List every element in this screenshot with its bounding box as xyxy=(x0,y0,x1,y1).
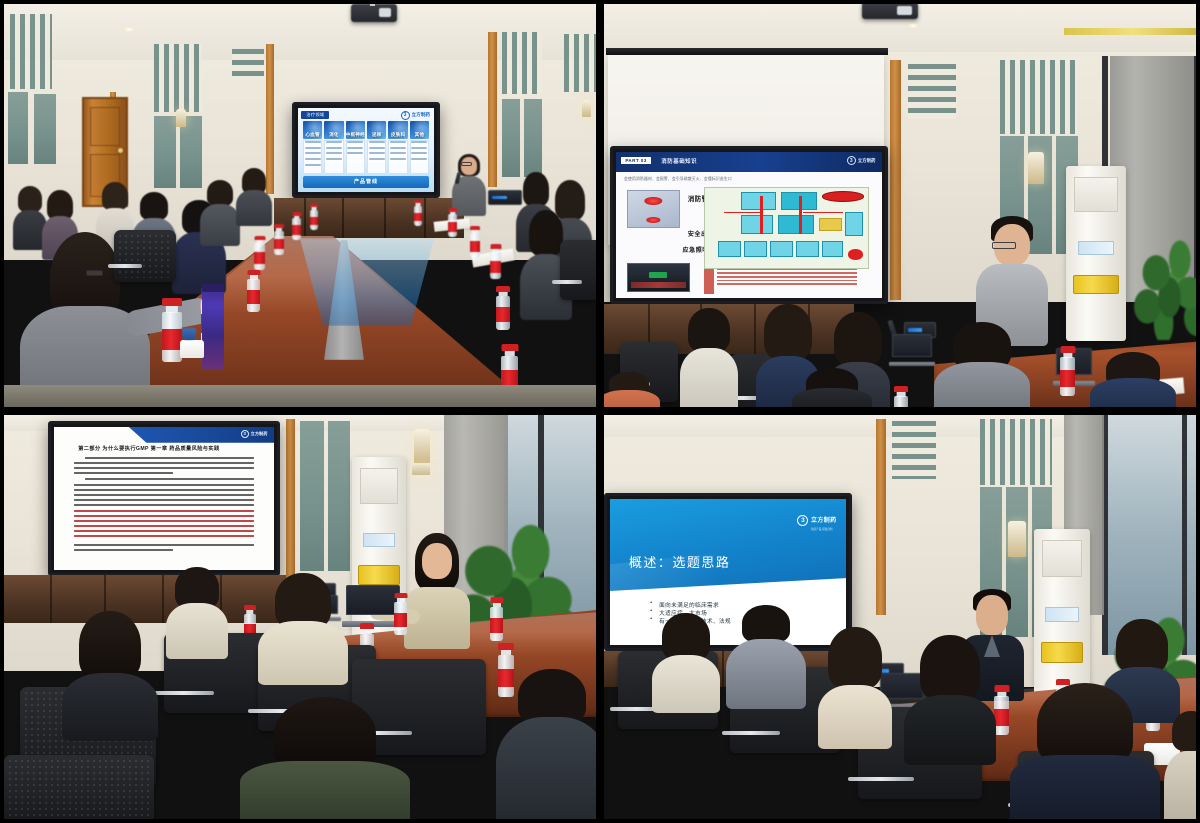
hair xyxy=(79,611,141,681)
eyeglasses xyxy=(992,242,1016,249)
hair xyxy=(828,627,882,689)
ac-display-sticker xyxy=(363,533,395,547)
pipeline-column: 心血管 xyxy=(303,121,323,173)
slide-product-pipeline: 治疗领域 3 立方制药 心血管 xyxy=(298,108,434,192)
map-room xyxy=(845,212,863,236)
chair-arm xyxy=(154,691,214,695)
attendee-left xyxy=(200,180,240,246)
column-title: 泌尿 xyxy=(367,132,387,138)
fire-safety-training-view: PART 03 消防基础知识 3 立方制药 会使用消防器材、会报警、会引导疏散灭… xyxy=(604,4,1196,407)
door-knob[interactable] xyxy=(118,148,123,153)
hair xyxy=(140,192,168,220)
bottle-label xyxy=(274,239,284,250)
hair xyxy=(920,635,980,701)
conference-room-wide-view: 治疗领域 3 立方制药 心血管 xyxy=(4,4,596,407)
wall-sconce xyxy=(1008,521,1026,557)
wall-sconce xyxy=(414,429,430,463)
bottle-label xyxy=(414,213,422,222)
water-bottle[interactable] xyxy=(292,212,301,240)
water-bottle[interactable] xyxy=(490,244,501,279)
bottle-label xyxy=(1060,370,1075,387)
water-bottle[interactable] xyxy=(394,593,407,635)
ac-display-sticker xyxy=(1045,607,1079,622)
column-image: 消化 xyxy=(324,121,344,139)
logo-subtext: 新药产品·研发创新 xyxy=(811,527,837,531)
pipeline-column: 泌尿 xyxy=(367,121,387,173)
exit-sign-icon xyxy=(649,272,668,278)
attendee xyxy=(1090,352,1176,407)
attendee-foreground xyxy=(1010,683,1160,819)
ac-energy-label xyxy=(1073,275,1119,294)
column-image: 泌尿 xyxy=(367,121,387,139)
pipeline-columns: 心血管 消化 xyxy=(303,121,430,173)
display-surface: 3 立方制药 第二部分 为什么要执行GMP 第一章 药品质量风险与实践 xyxy=(54,427,274,570)
wall-stripe-panel xyxy=(10,14,52,89)
torso xyxy=(258,621,348,685)
water-bottle[interactable] xyxy=(470,226,480,258)
bottle-label xyxy=(448,222,457,232)
attendee xyxy=(680,308,738,407)
torso xyxy=(240,761,410,819)
column-items xyxy=(367,140,387,174)
attendee xyxy=(496,669,596,819)
torso xyxy=(792,388,872,407)
water-bottle[interactable] xyxy=(310,204,318,230)
drinking-cup xyxy=(182,328,196,340)
collage-panel-top-left: 治疗领域 3 立方制药 心血管 xyxy=(0,0,600,411)
ceiling-projector xyxy=(351,4,397,22)
chair-arm xyxy=(848,777,914,781)
bottle-label xyxy=(490,261,501,273)
map-room xyxy=(744,241,767,257)
wall-teal-panel xyxy=(34,94,56,164)
floor xyxy=(4,385,596,407)
column-title: 心血管 xyxy=(303,132,323,138)
slide-tag: 治疗领域 xyxy=(301,111,329,119)
assembly-point-icon xyxy=(848,249,863,259)
wall-stripe-panel xyxy=(154,44,202,112)
wall-teal-panel xyxy=(502,99,520,177)
attendee xyxy=(934,322,1030,407)
ac-vent xyxy=(1074,177,1117,212)
wood-trim-column xyxy=(890,60,901,300)
presenter-female xyxy=(404,533,470,649)
slide-footer: 产品管线 xyxy=(303,176,430,188)
logo-mark-icon: 3 xyxy=(241,430,249,438)
chair-arm xyxy=(108,264,142,268)
collage-panel-bottom-left: 3 立方制药 第二部分 为什么要执行GMP 第一章 药品质量风险与实践 xyxy=(0,411,600,823)
plant-foliage xyxy=(1134,228,1196,340)
hair xyxy=(1172,711,1196,751)
projector-lens xyxy=(897,6,912,15)
wall-display: 3 立方制药 第二部分 为什么要执行GMP 第一章 药品质量风险与实践 xyxy=(48,421,280,576)
water-bottle[interactable] xyxy=(247,270,260,312)
attendee xyxy=(258,573,348,685)
photo-collage: 治疗领域 3 立方制药 心血管 xyxy=(0,0,1200,823)
attendee xyxy=(1164,711,1196,819)
torso xyxy=(904,695,996,765)
map-room xyxy=(778,215,814,234)
chair-back xyxy=(560,240,596,300)
column-image: 中枢神经 xyxy=(346,121,366,139)
wall-stripe-panel xyxy=(980,419,1052,485)
bottle-cap xyxy=(162,298,182,306)
ac-energy-label xyxy=(358,565,399,585)
hair xyxy=(662,613,710,661)
evacuation-arrow xyxy=(724,212,760,213)
logo-text: 立方制药 xyxy=(858,158,876,164)
evacuation-arrow xyxy=(803,212,844,213)
wall-sconce xyxy=(412,465,430,475)
wall-stripe-panel xyxy=(908,64,956,119)
pipeline-column: 中枢神经 xyxy=(346,121,366,173)
column-image: 皮肤科 xyxy=(388,121,408,139)
ac-vent xyxy=(360,468,399,504)
pipeline-column: 消化 xyxy=(324,121,344,173)
hair xyxy=(523,172,549,206)
collage-panel-bottom-right: 3 立方制药 新药产品·研发创新 概述：选题思路 面向未满足的临床需求 大适应症… xyxy=(600,411,1200,823)
office-chair[interactable] xyxy=(560,240,596,300)
overview-presentation-view: 3 立方制药 新药产品·研发创新 概述：选题思路 面向未满足的临床需求 大适应症… xyxy=(604,415,1196,819)
av-display xyxy=(492,196,506,199)
chair-arm xyxy=(722,731,780,735)
wood-trim-column xyxy=(286,419,295,579)
display-surface: 治疗领域 3 立方制药 心血管 xyxy=(298,108,434,192)
projector-lens xyxy=(379,8,391,17)
torso xyxy=(1090,378,1176,407)
torso xyxy=(652,655,720,713)
slide-fire-safety: PART 03 消防基础知识 3 立方制药 会使用消防器材、会报警、会引导疏散灭… xyxy=(616,152,882,298)
water-bottle[interactable] xyxy=(894,386,908,407)
ac-energy-label xyxy=(1041,642,1084,662)
wall-sconce xyxy=(176,109,186,127)
tissue-pack xyxy=(180,340,204,358)
company-logo: 3 立方制药 xyxy=(241,430,268,438)
projection-screen-housing xyxy=(606,48,888,55)
bottle-label xyxy=(292,225,301,235)
water-bottle[interactable] xyxy=(994,685,1009,735)
cabinet-seam xyxy=(342,198,344,238)
water-bottle[interactable] xyxy=(1060,346,1075,396)
ac-display-sticker xyxy=(1078,241,1114,255)
bottle-cap xyxy=(498,643,514,650)
column-title: 中枢神经 xyxy=(346,132,366,138)
office-chair[interactable] xyxy=(4,755,154,819)
pipeline-column: 皮肤科 xyxy=(388,121,408,173)
bottle-label xyxy=(162,329,182,351)
wall-display: 治疗领域 3 立方制药 心血管 xyxy=(292,102,440,198)
logo-text: 立方制药 xyxy=(412,112,430,118)
column-items xyxy=(388,140,408,174)
logo-text: 立方制药 xyxy=(251,431,268,437)
torso xyxy=(1010,755,1160,819)
water-bottle[interactable] xyxy=(496,286,510,330)
attendee xyxy=(818,627,892,749)
head xyxy=(976,595,1008,635)
wall-stripe-panel xyxy=(892,421,936,479)
torso xyxy=(934,362,1030,407)
laptop-lid xyxy=(892,334,932,357)
cabinet-seam xyxy=(722,651,724,687)
part-title: 消防基础知识 xyxy=(661,157,697,165)
collage-panel-top-right: PART 03 消防基础知识 3 立方制药 会使用消防器材、会报警、会引导疏散灭… xyxy=(600,0,1200,411)
chair-mesh xyxy=(118,234,172,278)
bottle-cap xyxy=(501,344,518,351)
air-conditioner xyxy=(1066,166,1126,341)
evacuation-map xyxy=(704,187,869,269)
bottle-label xyxy=(394,613,407,627)
torso xyxy=(1164,751,1196,819)
column-items xyxy=(303,140,323,174)
hair xyxy=(688,308,730,352)
laptop-base xyxy=(889,362,935,366)
map-room xyxy=(741,192,777,210)
map-room xyxy=(796,241,819,257)
bottle-label xyxy=(470,241,480,252)
attendee xyxy=(904,635,996,765)
torso xyxy=(818,685,892,749)
bottle-label xyxy=(994,709,1009,726)
company-logo: 3 立方制药 xyxy=(401,111,430,120)
hair xyxy=(1037,683,1133,765)
water-bottle[interactable] xyxy=(274,224,284,255)
logo-mark-icon: 3 xyxy=(847,156,856,165)
wall-teal-panel xyxy=(8,92,28,164)
gmp-training-view: 3 立方制药 第二部分 为什么要执行GMP 第一章 药品质量风险与实践 xyxy=(4,415,596,819)
body-paragraph-2 xyxy=(74,478,254,509)
cabinet-seam xyxy=(162,575,164,623)
evacuation-arrow xyxy=(799,196,801,234)
attendee xyxy=(726,605,806,709)
torso xyxy=(200,204,240,246)
map-room xyxy=(819,218,842,231)
wall-stripe-panel xyxy=(1000,60,1078,134)
alarm-button-icon xyxy=(647,217,660,223)
door-panel xyxy=(90,107,120,145)
slide-surface: PART 03 消防基础知识 3 立方制药 会使用消防器材、会报警、会引导疏散灭… xyxy=(616,152,882,298)
part-badge: PART 03 xyxy=(621,157,650,164)
company-logo: 3 立方制药 xyxy=(847,156,876,165)
column-title: 消化 xyxy=(324,132,344,138)
column-title: 皮肤科 xyxy=(388,132,408,138)
attendee xyxy=(604,372,660,407)
torso xyxy=(604,390,660,407)
wood-trim-column xyxy=(876,419,886,615)
logo-mark-icon: 3 xyxy=(797,515,808,526)
potted-plant xyxy=(1134,228,1196,340)
hair xyxy=(102,182,128,210)
column-image: 心血管 xyxy=(303,121,323,139)
column-items xyxy=(346,140,366,174)
ceiling-projector xyxy=(862,4,918,19)
wall-teal-panel xyxy=(300,421,324,571)
slide-title: 第二部分 为什么要执行GMP 第一章 药品质量风险与实践 xyxy=(78,445,219,452)
ceiling-downlight xyxy=(906,22,920,29)
wall-teal-panel xyxy=(328,421,350,571)
head xyxy=(422,543,452,579)
water-bottle[interactable] xyxy=(414,200,422,226)
attendee-left xyxy=(236,168,272,226)
column-items xyxy=(410,140,430,174)
wall-stripe-panel xyxy=(232,49,264,79)
wood-trim-column xyxy=(488,32,497,187)
laptop-lid xyxy=(346,585,400,615)
column-image: 其他 xyxy=(410,121,430,139)
bottle-label xyxy=(496,307,510,322)
hair xyxy=(1116,619,1168,673)
hair xyxy=(529,210,563,256)
hair xyxy=(834,312,882,366)
bottle-label xyxy=(490,618,503,633)
eyeglasses xyxy=(461,162,472,166)
ac-vent xyxy=(1042,540,1082,577)
alarm-button-icon xyxy=(645,197,662,205)
company-logo: 3 立方制药 新药产品·研发创新 xyxy=(797,509,836,531)
column-title: 其他 xyxy=(410,132,430,138)
torso xyxy=(496,717,596,819)
bottle-label xyxy=(247,290,260,304)
thermos-flask[interactable] xyxy=(202,284,224,370)
water-bottle[interactable] xyxy=(254,236,265,270)
head xyxy=(461,157,477,175)
projector-mount xyxy=(370,4,375,6)
ceiling-light-strip xyxy=(1064,28,1196,35)
body-paragraph-1 xyxy=(74,457,254,477)
column-items xyxy=(324,140,344,174)
slide-subline: 会使用消防器材、会报警、会引导疏散灭火、会懂标识逃生口 xyxy=(624,177,732,182)
alarm-panel-photo xyxy=(627,190,680,228)
thermos-lid xyxy=(202,284,224,292)
wall-stripe-panel xyxy=(564,34,596,92)
credenza-cabinet xyxy=(274,198,464,238)
chair-mesh xyxy=(8,759,150,819)
water-bottle[interactable] xyxy=(490,597,503,641)
attendee xyxy=(792,368,872,407)
bottle-label xyxy=(310,217,318,226)
evacuation-arrow xyxy=(760,196,762,234)
torso xyxy=(62,673,158,741)
cabinet-seam xyxy=(50,575,52,623)
pipeline-column: 其他 xyxy=(410,121,430,173)
attendee xyxy=(62,611,158,741)
hair xyxy=(742,605,790,643)
torso xyxy=(726,639,806,709)
map-room xyxy=(718,241,741,257)
water-bottle[interactable] xyxy=(448,208,457,237)
torso xyxy=(166,603,228,659)
map-room xyxy=(822,241,843,257)
av-display xyxy=(908,328,922,332)
water-bottle-foreground[interactable] xyxy=(162,298,182,362)
attendee xyxy=(166,567,228,659)
body-paragraph-3 xyxy=(74,544,254,554)
slide-topbar xyxy=(616,152,882,172)
wall-sconce xyxy=(1028,152,1044,184)
map-room xyxy=(770,241,793,257)
wall-teal-panel xyxy=(154,116,176,188)
bottle-body xyxy=(894,396,908,407)
body-paragraph-highlight xyxy=(74,510,254,541)
torso xyxy=(236,190,272,226)
slide-gmp-document: 3 立方制药 第二部分 为什么要执行GMP 第一章 药品质量风险与实践 xyxy=(54,427,274,570)
wall-stripe-panel xyxy=(502,32,542,94)
hair xyxy=(207,180,233,206)
cabinet-seam xyxy=(304,198,306,238)
map-room xyxy=(741,215,774,234)
map-stamp xyxy=(822,191,864,201)
cabinet-seam xyxy=(424,198,426,238)
laptop[interactable] xyxy=(346,585,400,627)
bottle-label xyxy=(254,252,265,264)
wall-sconce xyxy=(582,100,591,117)
eyeglasses xyxy=(86,270,103,276)
ceiling-downlight xyxy=(122,26,136,33)
corridor-wall xyxy=(631,282,685,288)
wall-teal-panel xyxy=(524,99,542,177)
attendee xyxy=(652,613,720,713)
attendee-foreground xyxy=(240,697,410,819)
slide-title: 概述：选题思路 xyxy=(629,552,731,571)
laptop[interactable] xyxy=(892,334,932,366)
logo-text: 立方制药 xyxy=(811,518,837,524)
office-chair[interactable] xyxy=(114,230,176,282)
slide-notes xyxy=(704,269,869,294)
cabinet-seam xyxy=(384,198,386,238)
chair-arm xyxy=(552,280,582,284)
logo-mark-icon: 3 xyxy=(401,111,410,120)
hair xyxy=(274,697,376,771)
corridor-photo xyxy=(627,263,691,292)
torso xyxy=(680,348,738,407)
hair xyxy=(18,186,42,212)
projected-slide-area: PART 03 消防基础知识 3 立方制药 会使用消防器材、会报警、会引导疏散灭… xyxy=(610,146,888,304)
hair xyxy=(764,304,812,360)
